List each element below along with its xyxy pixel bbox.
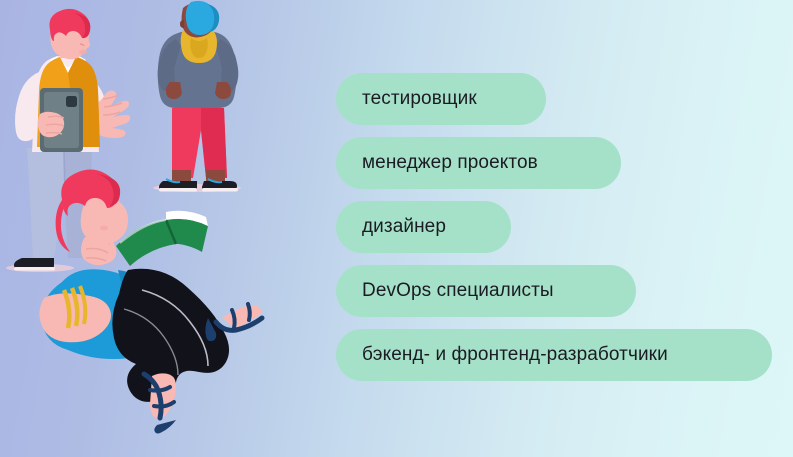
slide-root: тестировщик менеджер проектов дизайнер D… xyxy=(0,0,793,457)
role-pill-label: менеджер проектов xyxy=(362,152,538,174)
role-pill-label: дизайнер xyxy=(362,216,446,238)
role-pill-list: тестировщик менеджер проектов дизайнер D… xyxy=(336,73,786,393)
role-pill-backend-frontend-developers[interactable]: бэкенд- и фронтенд-разработчики xyxy=(336,329,772,381)
role-pill-project-manager[interactable]: менеджер проектов xyxy=(336,137,621,189)
figure-standing-hands-on-hips xyxy=(153,1,241,192)
role-pill-designer[interactable]: дизайнер xyxy=(336,201,511,253)
role-pill-label: бэкенд- и фронтенд-разработчики xyxy=(362,344,668,366)
role-pill-label: тестировщик xyxy=(362,88,477,110)
role-pill-label: DevOps специалисты xyxy=(362,280,554,302)
team-illustration xyxy=(0,0,330,457)
role-pill-tester[interactable]: тестировщик xyxy=(336,73,546,125)
role-pill-devops[interactable]: DevOps специалисты xyxy=(336,265,636,317)
